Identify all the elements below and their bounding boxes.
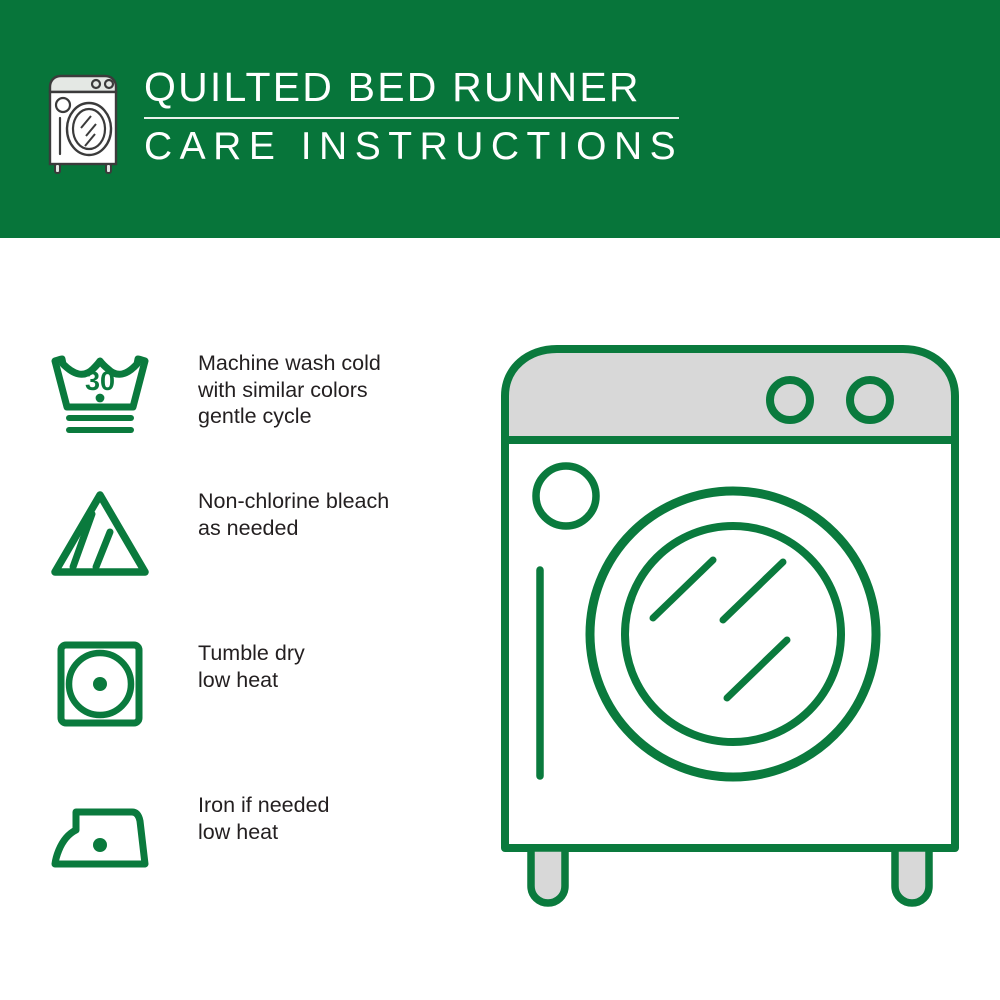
- care-row: Tumble dry low heat: [48, 638, 305, 730]
- gentle-bar-1: [66, 415, 134, 421]
- iron-low-heat-symbol: [48, 790, 152, 882]
- washing-machine-icon: [44, 66, 122, 176]
- header-title-block: QUILTED BED RUNNER CARE INSTRUCTIONS: [144, 62, 683, 169]
- care-instruction-text: Non-chlorine bleach as needed: [160, 486, 389, 541]
- wash-dot: [96, 394, 105, 403]
- care-symbol-slot: [48, 790, 160, 882]
- care-row: Iron if needed low heat: [48, 790, 330, 882]
- gentle-bar-2: [66, 427, 134, 433]
- dry-heat-dot: [93, 677, 107, 691]
- washing-machine-illustration: [495, 338, 965, 916]
- care-row: 30 Machine wash cold with similar colors…: [48, 348, 381, 440]
- machine-wash-30-gentle-symbol: 30: [48, 348, 152, 440]
- machine-body: [505, 440, 955, 848]
- leg-left: [531, 848, 565, 903]
- wash-temperature-value: 30: [85, 366, 115, 396]
- page-title: QUILTED BED RUNNER: [144, 64, 683, 110]
- page-subtitle: CARE INSTRUCTIONS: [144, 125, 683, 169]
- header-band: QUILTED BED RUNNER CARE INSTRUCTIONS: [0, 0, 1000, 238]
- care-instruction-text: Machine wash cold with similar colors ge…: [160, 348, 381, 430]
- non-chlorine-bleach-symbol: [48, 486, 152, 578]
- header-content: QUILTED BED RUNNER CARE INSTRUCTIONS: [44, 62, 683, 176]
- care-instruction-text: Tumble dry low heat: [160, 638, 305, 693]
- care-instructions-page: QUILTED BED RUNNER CARE INSTRUCTIONS 30 …: [0, 0, 1000, 1000]
- care-row: Non-chlorine bleach as needed: [48, 486, 389, 578]
- care-symbol-slot: [48, 638, 160, 730]
- tumble-dry-low-symbol: [48, 638, 152, 730]
- iron-heat-dot: [93, 838, 107, 852]
- care-symbol-slot: 30: [48, 348, 160, 440]
- leg-right: [895, 848, 929, 903]
- care-instruction-text: Iron if needed low heat: [160, 790, 330, 845]
- care-symbol-slot: [48, 486, 160, 578]
- title-divider: [144, 117, 679, 119]
